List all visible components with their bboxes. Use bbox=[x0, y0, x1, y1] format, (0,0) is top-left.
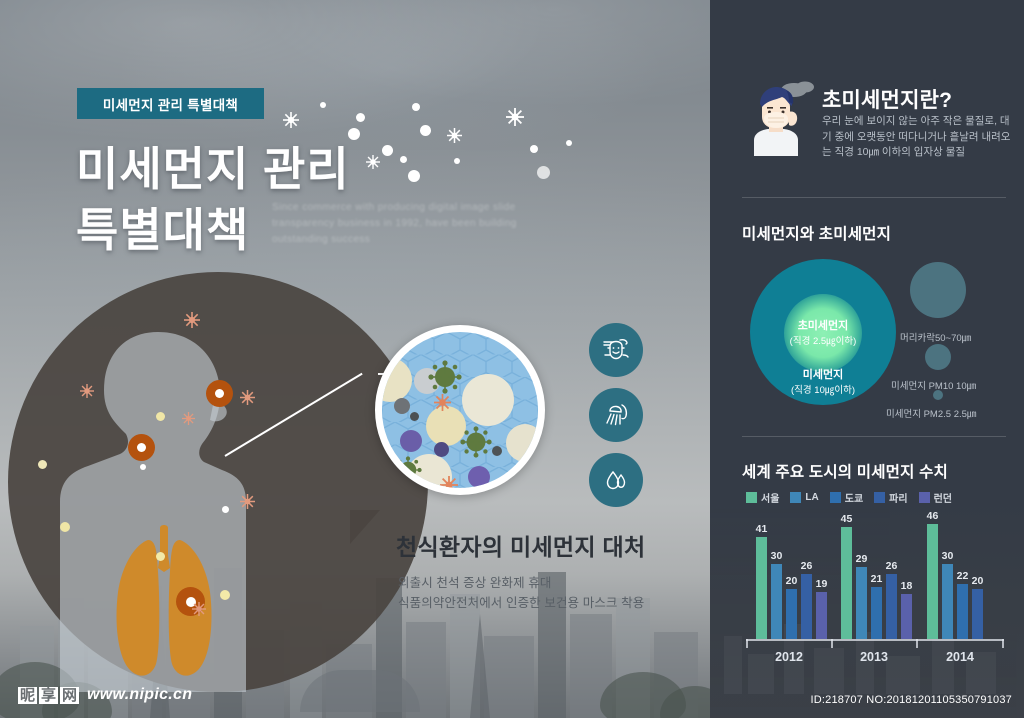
section-title-comparison: 미세먼지와 초미세먼지 bbox=[742, 222, 891, 244]
chart-legend: 서울LA도쿄파리런던 bbox=[746, 490, 952, 505]
bar-rect bbox=[841, 527, 852, 640]
bar-value-label: 20 bbox=[972, 575, 984, 587]
bar-rect bbox=[771, 564, 782, 639]
magnified-particle-view bbox=[375, 325, 545, 495]
bar-value-label: 18 bbox=[901, 580, 913, 592]
legend-label: LA bbox=[805, 492, 818, 503]
bar-rect bbox=[871, 587, 882, 640]
legend-swatch bbox=[919, 492, 930, 503]
bar-value-label: 22 bbox=[957, 570, 969, 582]
x-axis-label-2014: 2014 bbox=[925, 650, 995, 664]
bar-value-label: 26 bbox=[886, 560, 898, 572]
legend-item-3[interactable]: 파리 bbox=[874, 490, 907, 505]
bar-value-label: 20 bbox=[786, 575, 798, 587]
bar-value-label: 30 bbox=[771, 550, 783, 562]
virus-particle-icon bbox=[394, 456, 422, 484]
ref-label-pm10: 미세먼지 PM10 10㎛ bbox=[891, 378, 976, 392]
dust-star-icon bbox=[192, 602, 206, 616]
virus-particle-icon bbox=[460, 426, 492, 458]
bar-파리-2012[interactable]: 26 bbox=[801, 574, 812, 639]
mask-face-icon bbox=[599, 333, 633, 367]
dust-star-icon bbox=[184, 312, 200, 328]
bar-rect bbox=[901, 594, 912, 639]
watermark-url: www.nipic.cn bbox=[87, 686, 192, 704]
bar-rect bbox=[942, 564, 953, 639]
chart-x-axis bbox=[746, 639, 1004, 641]
bar-LA-2013[interactable]: 29 bbox=[856, 567, 867, 640]
bar-런던-2012[interactable]: 19 bbox=[816, 592, 827, 640]
dust-star-icon bbox=[366, 155, 380, 169]
bar-value-label: 30 bbox=[942, 550, 954, 562]
bar-group-2014: 46302220 bbox=[927, 524, 983, 639]
header-badge: 미세먼지 관리 특별대책 bbox=[77, 88, 264, 119]
legend-label: 도쿄 bbox=[845, 490, 863, 505]
legend-label: 서울 bbox=[761, 490, 779, 505]
shower-icon bbox=[599, 398, 633, 432]
dust-star-icon bbox=[80, 384, 94, 398]
icon-button-water[interactable] bbox=[589, 453, 643, 507]
bar-rect bbox=[957, 584, 968, 639]
ref-circle-pm10 bbox=[925, 344, 951, 370]
header-subtext: Since commerce with producing digital im… bbox=[272, 200, 532, 248]
dust-star-icon bbox=[506, 108, 524, 126]
bar-서울-2014[interactable]: 46 bbox=[927, 524, 938, 639]
bar-rect bbox=[972, 589, 983, 639]
label-fine-dust: 미세먼지 (직경 10㎍이하) bbox=[773, 366, 873, 396]
bar-rect bbox=[856, 567, 867, 640]
bar-rect bbox=[801, 574, 812, 639]
footer-id-text: ID:218707 NO:20181201105350791037 bbox=[810, 694, 1012, 706]
divider-2 bbox=[742, 436, 1006, 437]
bar-value-label: 26 bbox=[801, 560, 813, 572]
legend-item-4[interactable]: 런던 bbox=[919, 490, 952, 505]
dust-star-icon bbox=[440, 476, 458, 494]
dust-star-icon bbox=[182, 412, 195, 425]
bar-value-label: 21 bbox=[871, 573, 883, 585]
header-badge-label: 미세먼지 관리 특별대책 bbox=[103, 94, 238, 114]
icon-button-mask[interactable] bbox=[589, 323, 643, 377]
bar-서울-2012[interactable]: 41 bbox=[756, 537, 767, 640]
bar-rect bbox=[927, 524, 938, 639]
watermark-char: 享 bbox=[39, 687, 58, 704]
bar-LA-2014[interactable]: 30 bbox=[942, 564, 953, 639]
section-title-what-is-pm: 초미세먼지란? bbox=[822, 84, 952, 114]
bar-서울-2013[interactable]: 45 bbox=[841, 527, 852, 640]
legend-swatch bbox=[830, 492, 841, 503]
hotspot-nose bbox=[206, 380, 233, 407]
watermark-char: 昵 bbox=[18, 687, 37, 704]
caption-title: 천식환자의 미세먼지 대처 bbox=[396, 528, 645, 562]
virus-particle-icon bbox=[428, 360, 462, 394]
page-title-line2: 특별대책 bbox=[76, 194, 249, 260]
ref-label-pm25: 미세먼지 PM2.5 2.5㎛ bbox=[886, 406, 976, 420]
x-axis-label-2012: 2012 bbox=[754, 650, 824, 664]
bar-도쿄-2014[interactable]: 22 bbox=[957, 584, 968, 639]
legend-label: 파리 bbox=[889, 490, 907, 505]
bar-런던-2013[interactable]: 18 bbox=[901, 594, 912, 639]
pm-levels-bar-chart: 서울LA도쿄파리런던 4130202619452921261846302220 … bbox=[742, 490, 1010, 670]
legend-swatch bbox=[746, 492, 757, 503]
bar-value-label: 45 bbox=[841, 513, 853, 525]
chart-plot-area: 4130202619452921261846302220 bbox=[746, 514, 1004, 639]
coughing-person-icon bbox=[742, 78, 814, 156]
human-body-illustration bbox=[8, 272, 428, 692]
divider-1 bbox=[742, 197, 1006, 198]
bar-group-2012: 4130202619 bbox=[756, 537, 827, 640]
infographic-poster: 미세먼지 관리 특별대책 미세먼지 관리 특별대책 Since commerce… bbox=[0, 0, 1024, 718]
legend-item-0[interactable]: 서울 bbox=[746, 490, 779, 505]
bar-value-label: 19 bbox=[816, 578, 828, 590]
page-title-line1: 미세먼지 관리 bbox=[76, 133, 350, 199]
bar-도쿄-2012[interactable]: 20 bbox=[786, 589, 797, 639]
bar-rect bbox=[756, 537, 767, 640]
x-axis-label-2013: 2013 bbox=[839, 650, 909, 664]
section-title-chart: 세계 주요 도시의 미세먼지 수치 bbox=[742, 460, 948, 482]
bar-value-label: 41 bbox=[756, 523, 768, 535]
bar-value-label: 29 bbox=[856, 553, 868, 565]
bar-파리-2014[interactable]: 20 bbox=[972, 589, 983, 639]
bar-도쿄-2013[interactable]: 21 bbox=[871, 587, 882, 640]
water-drop-icon bbox=[599, 463, 633, 497]
bar-rect bbox=[886, 574, 897, 639]
dust-star-icon bbox=[447, 128, 462, 143]
dust-star-icon bbox=[434, 394, 451, 411]
legend-item-1[interactable]: LA bbox=[790, 492, 818, 503]
legend-label: 런던 bbox=[934, 490, 952, 505]
legend-swatch bbox=[874, 492, 885, 503]
bar-rect bbox=[816, 592, 827, 640]
bar-value-label: 46 bbox=[927, 510, 939, 522]
dust-star-icon bbox=[240, 390, 255, 405]
dust-star-icon bbox=[283, 112, 299, 128]
bar-group-2013: 4529212618 bbox=[841, 527, 912, 640]
ref-circle-pm25 bbox=[933, 390, 943, 400]
legend-item-2[interactable]: 도쿄 bbox=[830, 490, 863, 505]
watermark-char: 网 bbox=[60, 687, 79, 704]
watermark-logo: 昵享网 bbox=[18, 687, 79, 704]
watermark: 昵享网 www.nipic.cn bbox=[18, 686, 192, 704]
section-desc-what-is-pm: 우리 눈에 보이지 않는 아주 작은 물질로, 대기 중에 오랫동안 떠다니거나… bbox=[822, 114, 1016, 161]
legend-swatch bbox=[790, 492, 801, 503]
caption-line-1: 외출시 천석 증상 완화제 휴대 bbox=[398, 572, 552, 591]
ref-label-hair: 머리카락50~70㎛ bbox=[900, 330, 971, 344]
bar-파리-2013[interactable]: 26 bbox=[886, 574, 897, 639]
hotspot-throat bbox=[128, 434, 155, 461]
dust-star-icon bbox=[240, 494, 255, 509]
bar-LA-2012[interactable]: 30 bbox=[771, 564, 782, 639]
label-ultrafine-dust: 초미세먼지 (직경 2.5㎍이하) bbox=[773, 317, 873, 347]
caption-line-2: 식품의약안전처에서 인증한 보건용 마스크 착용 bbox=[398, 592, 644, 611]
icon-button-shower[interactable] bbox=[589, 388, 643, 442]
bar-rect bbox=[786, 589, 797, 639]
ref-circle-hair bbox=[910, 262, 966, 318]
caption-wedge bbox=[350, 510, 380, 544]
